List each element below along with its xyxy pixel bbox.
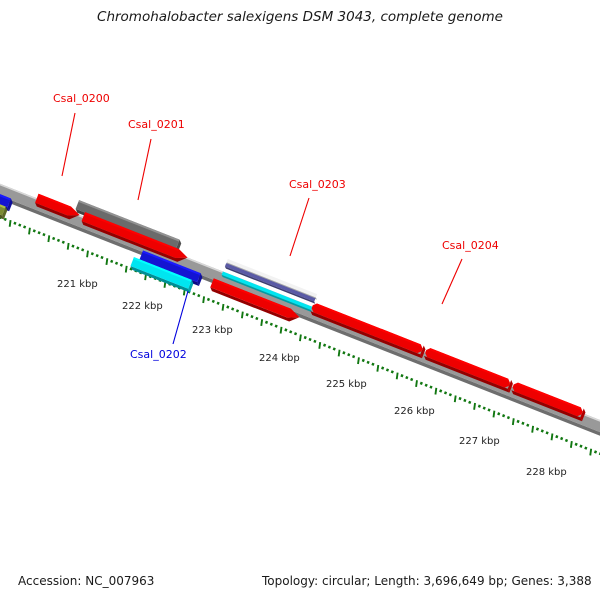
scale-tick-minor [77, 247, 78, 249]
scale-tick-minor [290, 331, 291, 333]
scale-tick-minor [295, 333, 296, 335]
scale-tick-minor [406, 376, 407, 378]
scale-tick-minor [581, 445, 582, 447]
scale-tick-label: 225 kbp [326, 379, 367, 390]
gene-label-text[interactable]: Csal_0203 [289, 178, 346, 191]
scale-tick-major [339, 350, 340, 357]
scale-tick-label: 224 kbp [259, 353, 300, 364]
scale-tick-minor [445, 392, 446, 394]
scale-tick-minor [566, 439, 567, 441]
scale-tick-minor [576, 443, 577, 445]
scale-tick-label: 221 kbp [57, 279, 98, 290]
scale-tick-major [358, 357, 359, 364]
scale-tick-minor [285, 329, 286, 331]
accession-text: Accession: NC_007963 [18, 574, 154, 588]
scale-tick-minor [484, 407, 485, 409]
scale-tick-minor [252, 315, 253, 317]
scale-tick-major [48, 235, 49, 242]
scale-tick-minor [329, 346, 330, 348]
scale-tick-minor [237, 310, 238, 312]
scale-tick-minor [39, 232, 40, 234]
gene-label-text[interactable]: Csal_0204 [442, 239, 499, 252]
scale-tick-minor [479, 405, 480, 407]
scale-tick-minor [5, 218, 6, 220]
scale-tick-major [571, 441, 572, 448]
scale-tick-minor [193, 293, 194, 295]
scale-tick-minor [198, 294, 199, 296]
scale-tick-label: 228 kbp [526, 467, 567, 478]
scale-tick-minor [53, 237, 54, 239]
genome-summary-text: Topology: circular; Length: 3,696,649 bp… [261, 574, 592, 588]
scale-tick-major [223, 304, 224, 311]
scale-tick-minor [363, 359, 364, 361]
scale-tick-minor [213, 300, 214, 302]
gene-label-text[interactable]: Csal_0201 [128, 118, 185, 131]
scale-tick-minor [305, 336, 306, 338]
scale-tick-minor [595, 451, 596, 453]
scale-tick-major [126, 266, 127, 273]
scale-tick-minor [102, 256, 103, 258]
scale-tick-minor [348, 354, 349, 356]
scale-tick-minor [73, 245, 74, 247]
scale-tick-major [435, 388, 436, 395]
scale-tick-major [397, 373, 398, 380]
scale-tick-minor [256, 317, 257, 319]
scale-tick-minor [227, 306, 228, 308]
scale-tick-major [319, 342, 320, 349]
scale-tick-minor [561, 437, 562, 439]
scale-tick-major [68, 243, 69, 250]
scale-tick-label: 227 kbp [459, 436, 500, 447]
scale-tick-label: 223 kbp [192, 325, 233, 336]
scale-tick-major [532, 426, 533, 433]
scale-tick-minor [402, 374, 403, 376]
genome-viewer[interactable]: Chromohalobacter salexigens DSM 3043, co… [0, 0, 600, 600]
scale-tick-minor [469, 401, 470, 403]
scale-tick-minor [131, 268, 132, 270]
scale-tick-minor [111, 260, 112, 262]
scale-tick-minor [518, 420, 519, 422]
scale-tick-minor [121, 264, 122, 266]
scale-tick-minor [97, 254, 98, 256]
scale-tick-minor [421, 382, 422, 384]
scale-tick-minor [92, 253, 93, 255]
scale-tick-minor [522, 422, 523, 424]
scale-tick-minor [334, 348, 335, 350]
scale-tick-minor [34, 230, 35, 232]
scale-tick-major [493, 411, 494, 418]
scale-tick-minor [314, 340, 315, 342]
scale-tick-minor [450, 394, 451, 396]
scale-tick-major [242, 312, 243, 319]
scale-tick-major [590, 449, 591, 456]
scale-tick-minor [343, 352, 344, 354]
scale-tick-minor [19, 224, 20, 226]
scale-tick-minor [537, 428, 538, 430]
scale-tick-major [300, 334, 301, 341]
scale-tick-minor [14, 222, 15, 224]
scale-tick-label: 226 kbp [394, 406, 435, 417]
scale-tick-minor [503, 415, 504, 417]
scale-tick-minor [63, 241, 64, 243]
scale-tick-minor [464, 399, 465, 401]
scale-tick-major [455, 395, 456, 402]
scale-tick-minor [368, 361, 369, 363]
scale-tick-major [106, 258, 107, 265]
scale-tick-minor [58, 239, 59, 241]
scale-tick-minor [440, 390, 441, 392]
scale-tick-minor [232, 308, 233, 310]
scale-tick-major [377, 365, 378, 372]
scale-tick-minor [43, 233, 44, 235]
scale-tick-minor [489, 409, 490, 411]
scale-tick-minor [82, 249, 83, 251]
scale-tick-minor [266, 321, 267, 323]
scale-tick-minor [556, 435, 557, 437]
scale-tick-minor [382, 367, 383, 369]
scale-tick-minor [431, 386, 432, 388]
page-title: Chromohalobacter salexigens DSM 3043, co… [97, 9, 503, 25]
scale-tick-minor [460, 397, 461, 399]
scale-tick-minor [208, 298, 209, 300]
gene-label-text[interactable]: Csal_0202 [130, 348, 187, 361]
scale-tick-major [474, 403, 475, 410]
scale-tick-minor [247, 313, 248, 315]
canvas-background [0, 0, 600, 600]
gene-label-text[interactable]: Csal_0200 [53, 92, 110, 105]
scale-tick-minor [310, 338, 311, 340]
scale-tick-minor [527, 424, 528, 426]
scale-tick-major [29, 228, 30, 235]
scale-tick-minor [372, 363, 373, 365]
scale-tick-minor [24, 226, 25, 228]
scale-tick-minor [271, 323, 272, 325]
scale-tick-minor [585, 447, 586, 449]
scale-tick-major [281, 327, 282, 334]
scale-tick-label: 222 kbp [122, 301, 163, 312]
scale-tick-major [10, 220, 11, 227]
scale-tick-major [552, 434, 553, 441]
scale-tick-minor [426, 384, 427, 386]
scale-tick-major [513, 418, 514, 425]
scale-tick-minor [353, 355, 354, 357]
scale-tick-minor [547, 432, 548, 434]
scale-tick-minor [411, 378, 412, 380]
scale-tick-major [261, 319, 262, 326]
scale-tick-minor [324, 344, 325, 346]
scale-tick-minor [218, 302, 219, 304]
scale-tick-minor [542, 430, 543, 432]
scale-tick-minor [276, 325, 277, 327]
scale-tick-minor [498, 413, 499, 415]
scale-tick-major [416, 380, 417, 387]
scale-tick-minor [116, 262, 117, 264]
scale-tick-major [203, 296, 204, 303]
scale-tick-minor [508, 416, 509, 418]
scale-tick-minor [392, 371, 393, 373]
scale-tick-minor [387, 369, 388, 371]
scale-tick-major [87, 251, 88, 258]
